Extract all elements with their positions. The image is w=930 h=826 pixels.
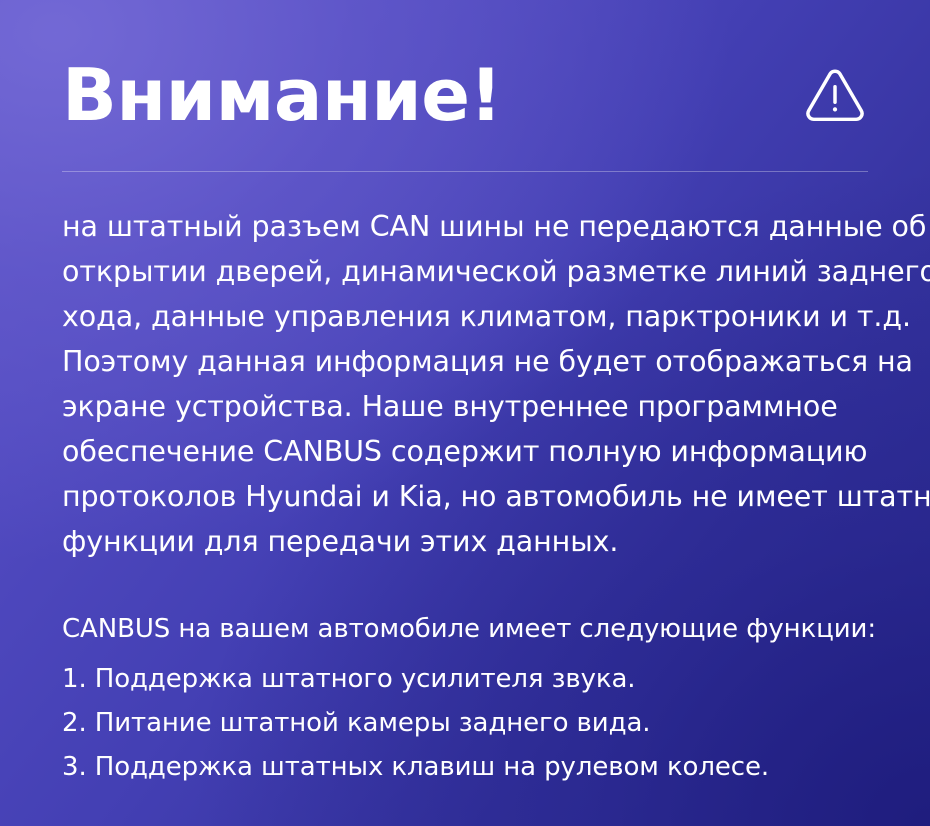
warning-notice-slide: Внимание! на штатный разъем CAN шины не …	[0, 0, 930, 826]
functions-block: CANBUS на вашем автомобиле имеет следующ…	[62, 608, 882, 789]
header: Внимание!	[62, 52, 868, 138]
paragraph-line: Поэтому данная информация не будет отобр…	[62, 339, 882, 384]
header-divider	[62, 171, 868, 172]
paragraph-line: открытии дверей, динамической разметке л…	[62, 249, 882, 294]
paragraph-line: функции для передачи этих данных.	[62, 519, 882, 564]
page-title: Внимание!	[62, 52, 502, 138]
list-item: 1. Поддержка штатного усилителя звука.	[62, 657, 882, 701]
notice-paragraph: на штатный разъем CAN шины не передаются…	[62, 204, 882, 564]
paragraph-line: протоколов Hyundai и Kia, но автомобиль …	[62, 474, 882, 519]
paragraph-line: на штатный разъем CAN шины не передаются…	[62, 204, 882, 249]
functions-list: 1. Поддержка штатного усилителя звука. 2…	[62, 657, 882, 789]
warning-triangle-icon	[804, 64, 868, 126]
paragraph-line: обеспечение CANBUS содержит полную инфор…	[62, 429, 882, 474]
paragraph-line: экране устройства. Наше внутреннее прогр…	[62, 384, 882, 429]
content: на штатный разъем CAN шины не передаются…	[62, 204, 882, 789]
functions-intro: CANBUS на вашем автомобиле имеет следующ…	[62, 608, 882, 650]
list-item: 3. Поддержка штатных клавиш на рулевом к…	[62, 745, 882, 789]
list-item: 2. Питание штатной камеры заднего вида.	[62, 701, 882, 745]
paragraph-line: хода, данные управления климатом, парктр…	[62, 294, 882, 339]
